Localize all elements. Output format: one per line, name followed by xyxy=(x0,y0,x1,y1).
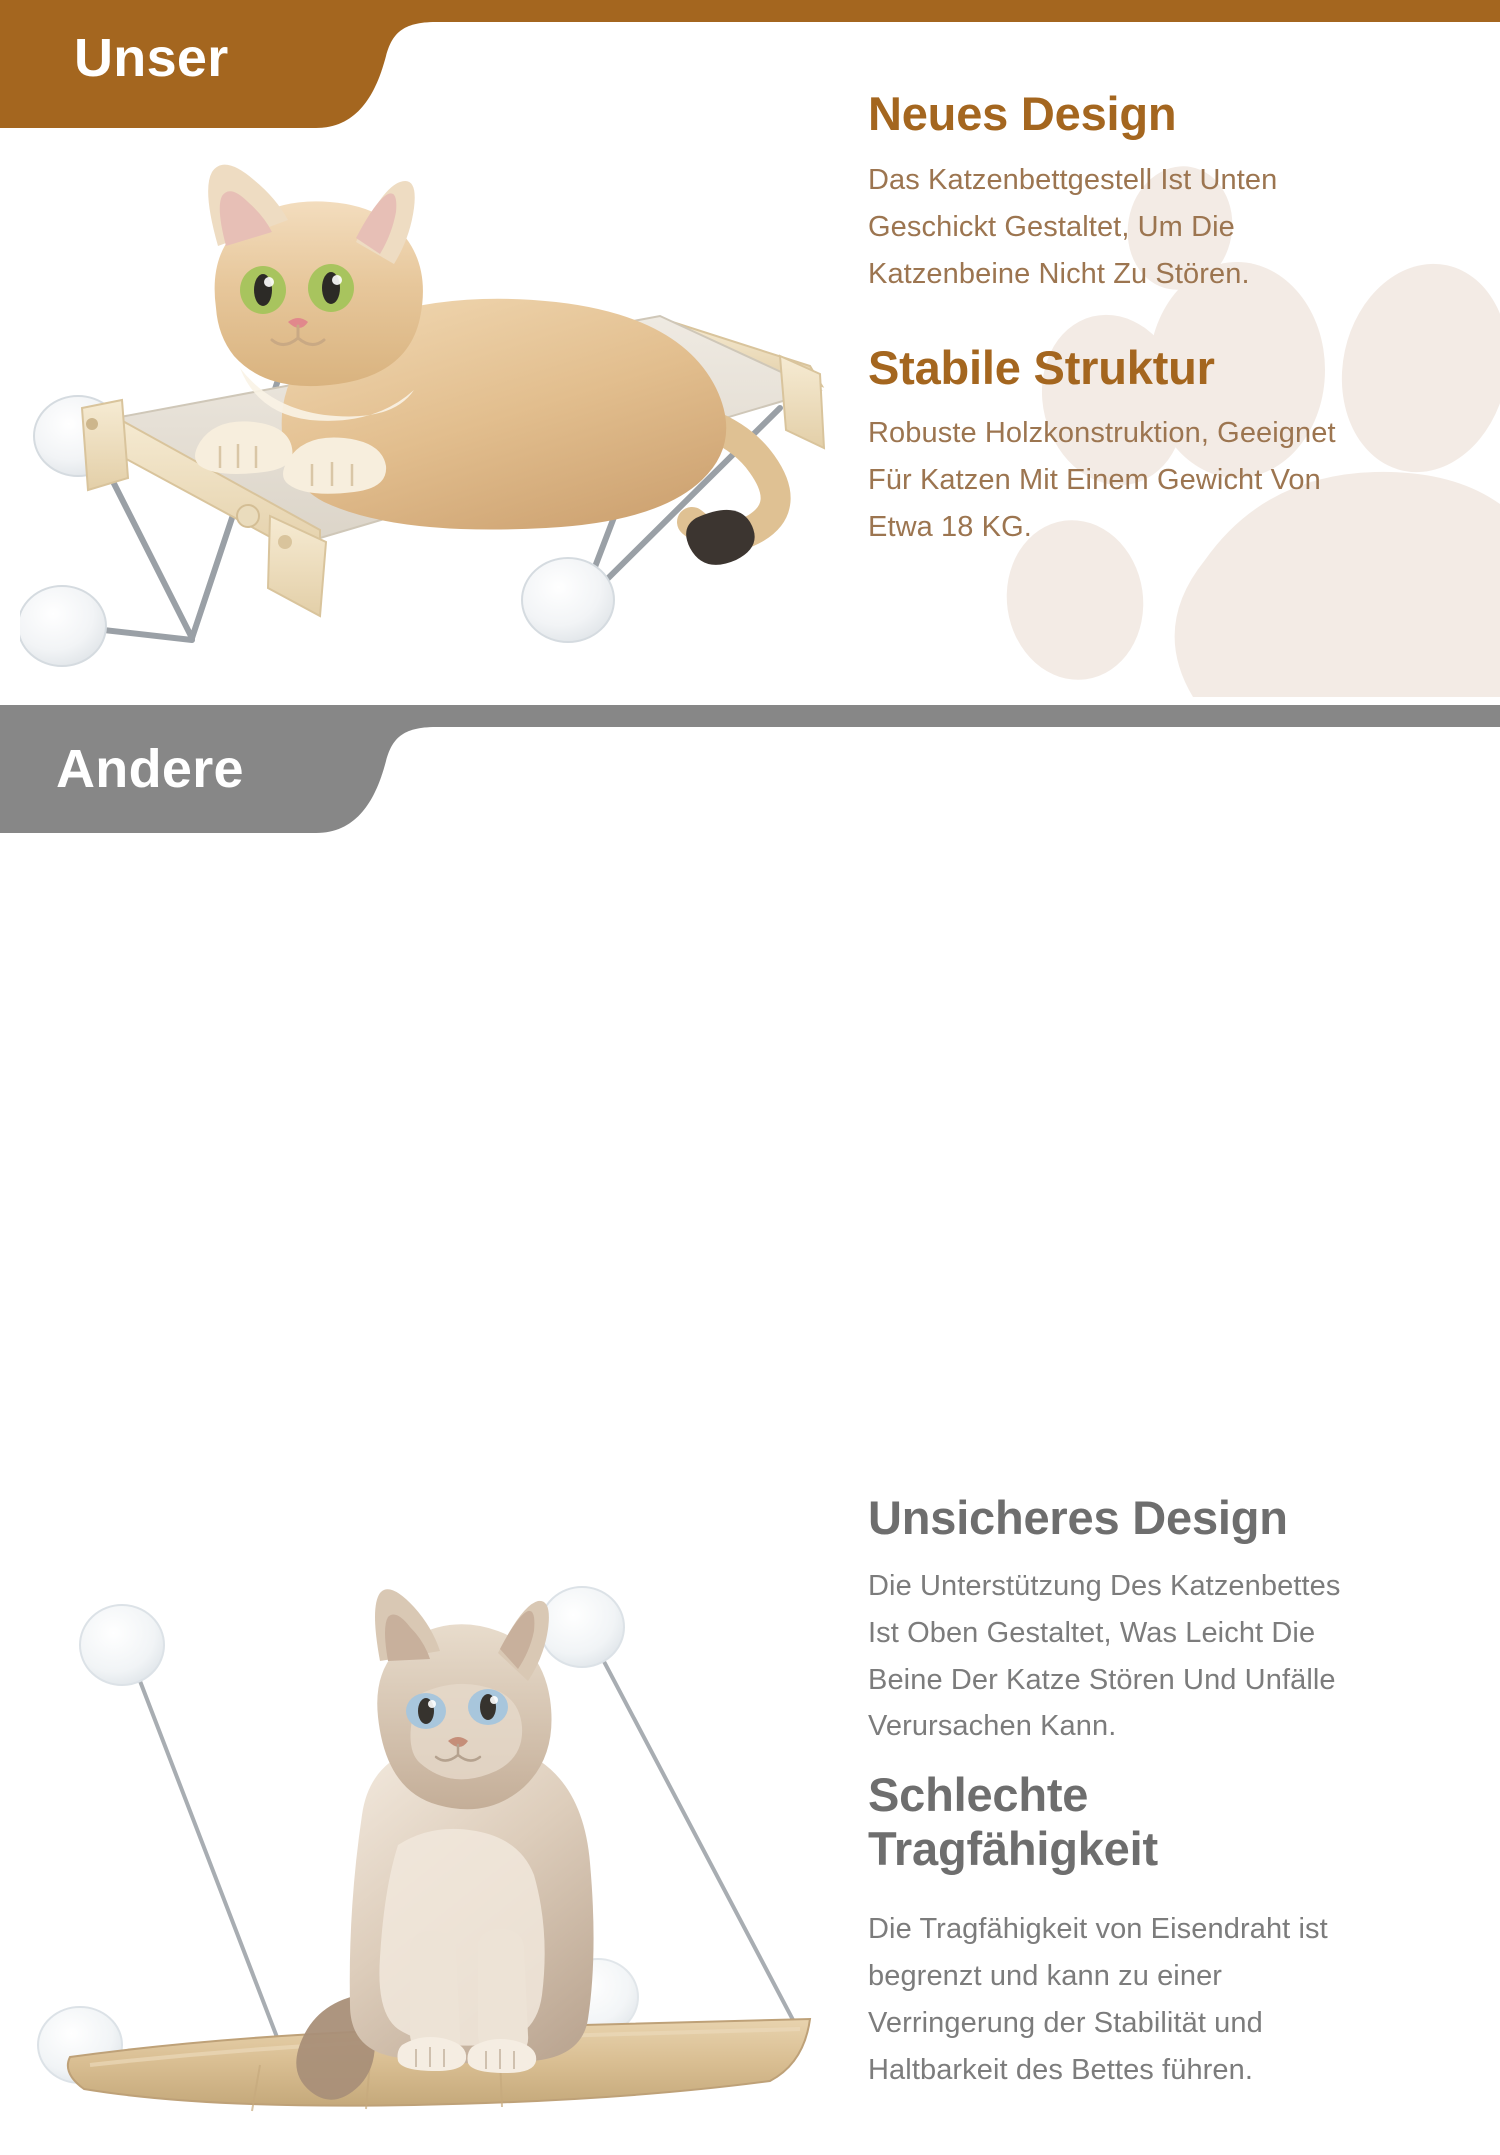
drawback-heading: Schlechte Tragfähigkeit xyxy=(868,1768,1468,1875)
feature-block-neues-design: Neues Design Das Katzenbettgestell Ist U… xyxy=(868,88,1468,298)
drawback-body-line: Die Tragfähigkeit von Eisendraht ist xyxy=(868,1906,1468,1953)
feature-body-line: Das Katzenbettgestell Ist Unten xyxy=(868,157,1468,204)
suction-cup-icon xyxy=(522,558,614,642)
feature-body: Das Katzenbettgestell Ist Unten Geschick… xyxy=(868,157,1468,298)
feature-block-stabile-struktur: Stabile Struktur Robuste Holzkonstruktio… xyxy=(868,342,1468,552)
drawback-body: Die Unterstützung Des Katzenbettes Ist O… xyxy=(868,1563,1468,1751)
drawback-heading-line: Tragfähigkeit xyxy=(868,1822,1468,1876)
drawback-heading: Unsicheres Design xyxy=(868,1491,1468,1545)
drawback-heading-line: Schlechte xyxy=(868,1768,1468,1822)
drawback-body-line: Ist Oben Gestaltet, Was Leicht Die xyxy=(868,1610,1468,1657)
drawback-body-line: Verursachen Kann. xyxy=(868,1703,1468,1750)
suction-cup-icon xyxy=(540,1587,624,1667)
feature-body-line: Für Katzen Mit Einem Gewicht Von xyxy=(868,457,1468,504)
drawback-body-line: Die Unterstützung Des Katzenbettes xyxy=(868,1563,1468,1610)
suction-cup-icon xyxy=(20,586,106,666)
drawback-body: Die Tragfähigkeit von Eisendraht ist beg… xyxy=(868,1906,1468,2094)
drawback-body-line: Haltbarkeit des Bettes führen. xyxy=(868,2047,1468,2094)
banner-label-andere: Andere xyxy=(56,741,244,798)
other-product-text-column: Unsicheres Design Die Unterstützung Des … xyxy=(868,1491,1468,2093)
drawback-body-line: Beine Der Katze Stören Und Unfälle xyxy=(868,1657,1468,1704)
cat-illustration xyxy=(296,1589,593,2099)
feature-body-line: Katzenbeine Nicht Zu Stören. xyxy=(868,251,1468,298)
comparison-infographic: Unser xyxy=(0,0,1500,1458)
drawback-block-unsicheres-design: Unsicheres Design Die Unterstützung Des … xyxy=(868,1491,1468,1750)
cat-tail-tip xyxy=(686,510,755,565)
feature-body-line: Robuste Holzkonstruktion, Geeignet xyxy=(868,410,1468,457)
other-product-image xyxy=(30,1545,860,2155)
other-product-panel: Andere xyxy=(0,705,1500,1458)
feature-heading: Stabile Struktur xyxy=(868,342,1468,395)
our-product-panel: Unser xyxy=(0,0,1500,705)
our-product-image xyxy=(20,118,840,698)
drawback-block-schlechte-tragfaehigkeit: Schlechte Tragfähigkeit Die Tragfähigkei… xyxy=(868,1768,1468,2093)
feature-body-line: Etwa 18 KG. xyxy=(868,504,1468,551)
drawback-body-line: begrenzt und kann zu einer xyxy=(868,1953,1468,2000)
feature-body-line: Geschickt Gestaltet, Um Die xyxy=(868,204,1468,251)
our-product-text-column: Neues Design Das Katzenbettgestell Ist U… xyxy=(868,88,1468,551)
suction-cup-icon xyxy=(80,1605,164,1685)
other-product-banner: Andere xyxy=(0,705,1500,835)
feature-heading: Neues Design xyxy=(868,88,1468,141)
feature-body: Robuste Holzkonstruktion, Geeignet Für K… xyxy=(868,410,1468,551)
drawback-body-line: Verringerung der Stabilität und xyxy=(868,2000,1468,2047)
banner-label-unser: Unser xyxy=(74,30,229,87)
